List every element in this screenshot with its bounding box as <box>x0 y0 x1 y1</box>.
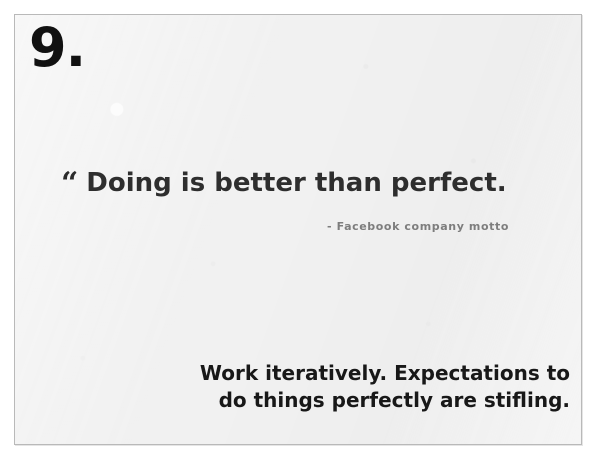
closing-statement: Work iteratively. Expectations to do thi… <box>200 360 570 414</box>
slide-number: 9. <box>29 21 85 75</box>
quote-attribution: - Facebook company motto <box>15 220 581 233</box>
closing-statement-line-2: do things perfectly are stifling. <box>200 387 570 414</box>
presentation-slide: 9. “Doing is better than perfect. - Face… <box>14 14 582 445</box>
quote-block: “Doing is better than perfect. - Faceboo… <box>15 165 581 233</box>
closing-statement-line-1: Work iteratively. Expectations to <box>200 360 570 387</box>
quote-headline: “Doing is better than perfect. <box>15 165 581 200</box>
slide-canvas: 9. “Doing is better than perfect. - Face… <box>0 0 600 463</box>
open-quotation-mark-icon: “ <box>61 166 77 201</box>
quote-text: Doing is better than perfect. <box>86 168 506 198</box>
